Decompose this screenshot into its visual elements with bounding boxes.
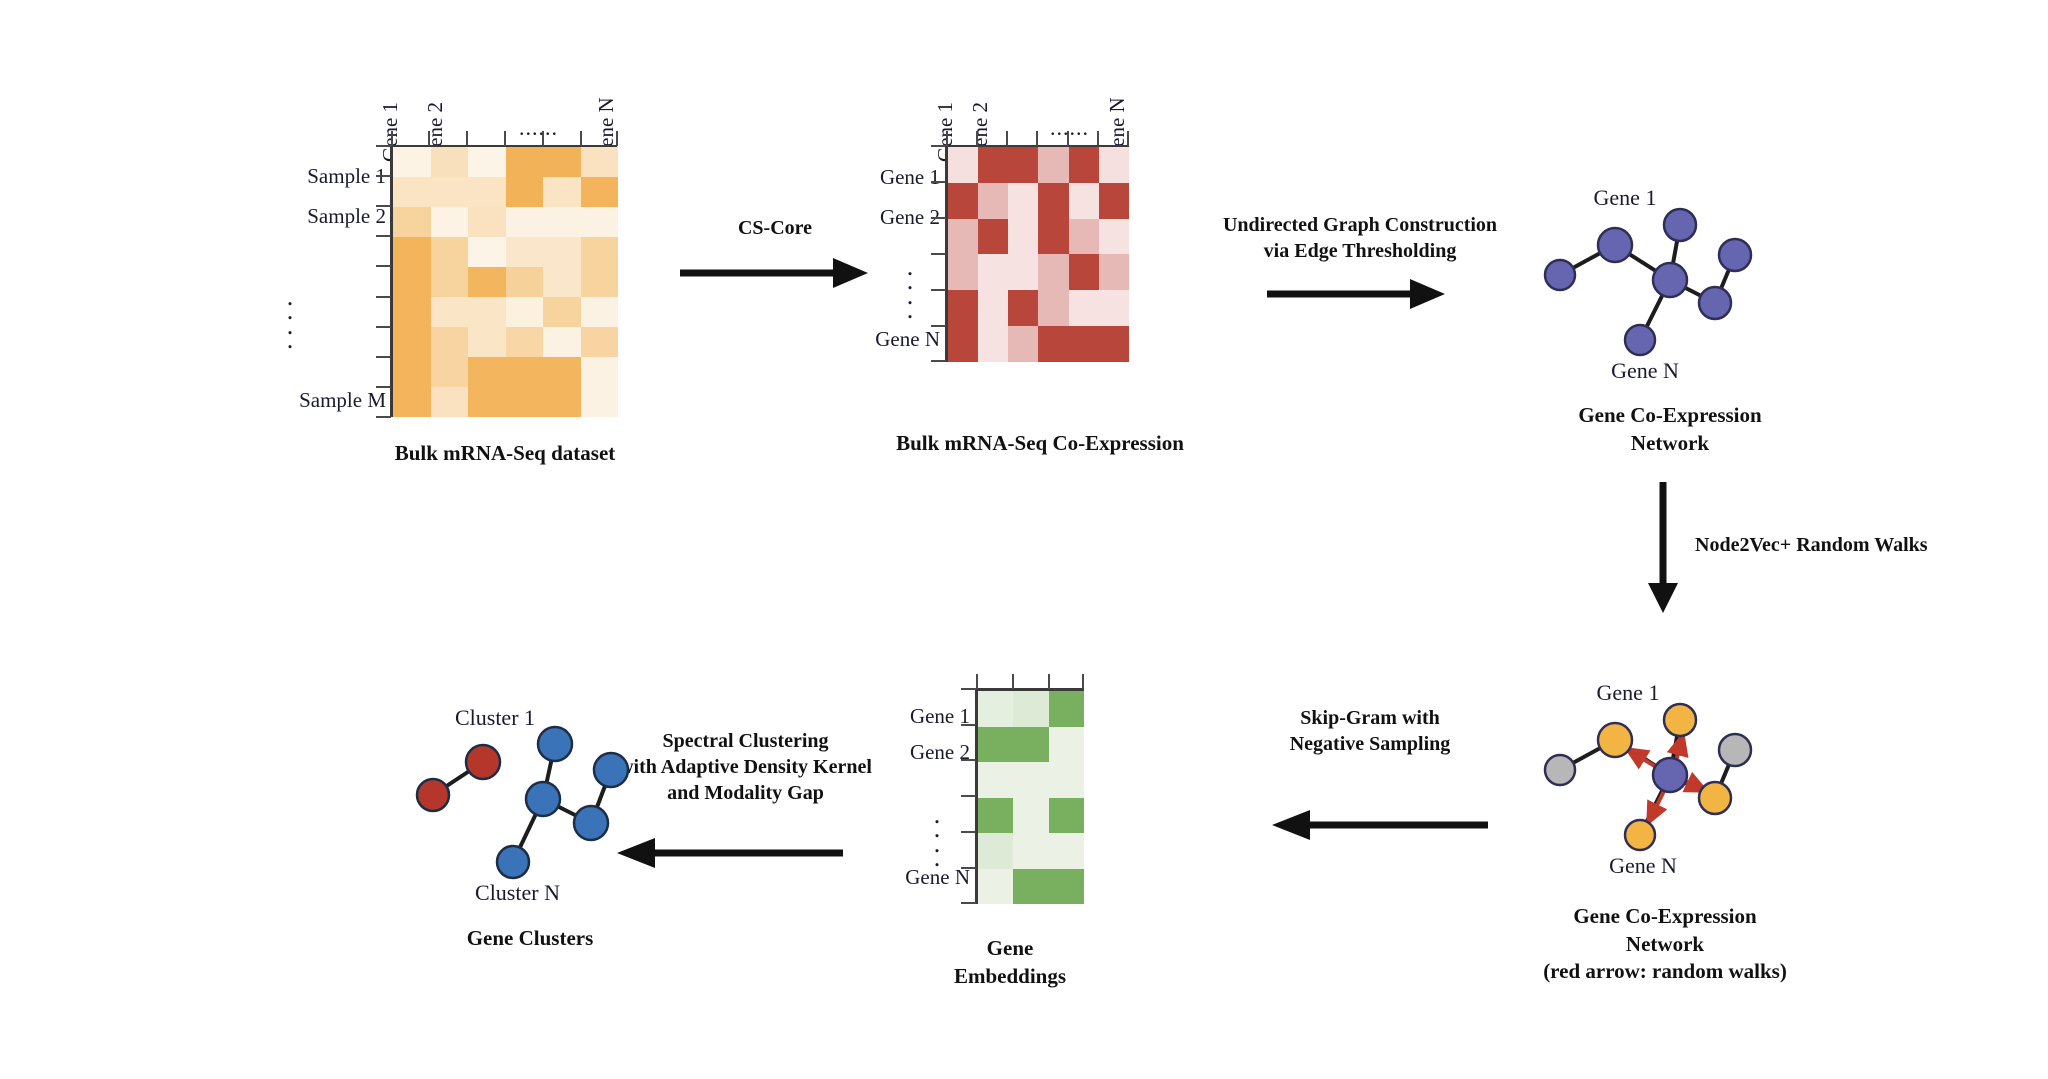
bulk-row-label-sample2: Sample 2 [206, 204, 386, 229]
heatmap-cell [1038, 290, 1068, 326]
embeddings-col-tick [1048, 674, 1050, 689]
heatmap-cell [1049, 762, 1084, 798]
panel-embeddings: Gene 1 Gene 2 .... Gene N Gene Embedding… [890, 690, 1210, 1030]
bulk-col-tick [466, 131, 468, 146]
heatmap-cell [978, 691, 1013, 727]
heatmap-cell [1049, 727, 1084, 763]
heatmap-cell [431, 297, 469, 327]
coexpr-col-tick [946, 131, 948, 146]
embeddings-row-tick [961, 724, 976, 726]
coexpr-col-tick [1036, 131, 1038, 146]
heatmap-cell [581, 387, 619, 417]
coexpr-row-tick [931, 181, 946, 183]
bulk-col-tick [428, 131, 430, 146]
heatmap-cell [431, 267, 469, 297]
heatmap-cell [431, 387, 469, 417]
heatmap-cell [431, 177, 469, 207]
heatmap-cell [393, 207, 431, 237]
arrow-node2vec-group: Node2Vec+ Random Walks [1590, 480, 2040, 630]
heatmap-cell [393, 177, 431, 207]
network-walks-caption: Gene Co-Expression Network (red arrow: r… [1465, 903, 1865, 986]
heatmap-cell [1038, 326, 1068, 362]
coexpr-row-label-genen: Gene N [750, 327, 940, 352]
heatmap-cell [543, 327, 581, 357]
arrow-skipgram-group: Skip-Gram with Negative Sampling [1235, 705, 1505, 825]
heatmap-cell [581, 327, 619, 357]
heatmap-cell [978, 290, 1008, 326]
heatmap-cell [1013, 869, 1048, 905]
heatmap-cell [431, 327, 469, 357]
heatmap-cell [948, 183, 978, 219]
heatmap-cell [431, 237, 469, 267]
heatmap-cell [948, 147, 978, 183]
bulk-row-label-sample1: Sample 1 [206, 164, 386, 189]
heatmap-cell [393, 387, 431, 417]
heatmap-cell [506, 297, 544, 327]
coexpr-col-tick [1006, 131, 1008, 146]
embeddings-row-tick [961, 795, 976, 797]
bulk-col-tick [391, 131, 393, 146]
figure-canvas: Gene 1 Gene 2 ...... Gene N Sample 1 Sam… [0, 0, 2048, 1079]
heatmap-cell [506, 177, 544, 207]
heatmap-cell [431, 147, 469, 177]
heatmap-cell [1099, 290, 1129, 326]
embeddings-heatmap-grid [978, 691, 1084, 904]
embeddings-col-tick [1012, 674, 1014, 689]
heatmap-cell [506, 357, 544, 387]
heatmap-cell [431, 207, 469, 237]
heatmap-cell [1069, 147, 1099, 183]
heatmap-cell [1013, 798, 1048, 834]
bulk-matrix-caption: Bulk mRNA-Seq dataset [250, 440, 760, 468]
heatmap-cell [506, 147, 544, 177]
coexpr-col-tick [1127, 131, 1129, 146]
heatmap-cell [393, 237, 431, 267]
heatmap-cell [948, 290, 978, 326]
heatmap-cell [1069, 254, 1099, 290]
heatmap-cell [543, 207, 581, 237]
clusters-caption: Gene Clusters [350, 925, 710, 953]
heatmap-cell [978, 183, 1008, 219]
embeddings-row-tick [961, 902, 976, 904]
heatmap-cell [506, 207, 544, 237]
panel-bulk-matrix: Gene 1 Gene 2 ...... Gene N Sample 1 Sam… [270, 55, 690, 495]
heatmap-cell [581, 237, 619, 267]
bulk-row-ellipsis: .... [260, 290, 320, 347]
heatmap-cell [1008, 290, 1038, 326]
bulk-row-label-samplem: Sample M [206, 388, 386, 413]
heatmap-cell [948, 326, 978, 362]
coexpr-row-tick [931, 217, 946, 219]
coexpr-col-tick [1067, 131, 1069, 146]
bulk-row-tick [376, 175, 391, 177]
heatmap-cell [468, 207, 506, 237]
heatmap-cell [1069, 183, 1099, 219]
heatmap-cell [1069, 219, 1099, 255]
heatmap-cell [1049, 691, 1084, 727]
clusters-label-clustern: Cluster N [435, 880, 600, 906]
heatmap-cell [543, 237, 581, 267]
heatmap-cell [393, 297, 431, 327]
heatmap-cell [1008, 254, 1038, 290]
bulk-col-tick [542, 131, 544, 146]
heatmap-cell [581, 357, 619, 387]
coexpr-row-label-gene1: Gene 1 [750, 165, 940, 190]
arrow-graph-construction-icon [1265, 274, 1455, 314]
heatmap-cell [393, 147, 431, 177]
heatmap-cell [1099, 219, 1129, 255]
heatmap-cell [1069, 326, 1099, 362]
heatmap-cell [1099, 254, 1129, 290]
bulk-row-tick [376, 265, 391, 267]
network-walks-label-genen: Gene N [1568, 853, 1718, 879]
bulk-row-tick [376, 205, 391, 207]
heatmap-cell [1013, 833, 1048, 869]
panel-clusters: Cluster 1 Cluster N Gene Clusters [395, 700, 725, 1000]
embeddings-row-tick [961, 688, 976, 690]
heatmap-cell [1038, 254, 1068, 290]
bulk-row-tick [376, 386, 391, 388]
heatmap-cell [1008, 183, 1038, 219]
bulk-col-ellipsis: ...... [519, 115, 558, 141]
bulk-row-tick [376, 326, 391, 328]
heatmap-cell [506, 387, 544, 417]
embeddings-row-tick [961, 831, 976, 833]
coexpr-col-tick [976, 131, 978, 146]
embeddings-row-tick [961, 759, 976, 761]
coexpr-row-tick [931, 325, 946, 327]
embeddings-caption: Gene Embeddings [850, 935, 1170, 990]
heatmap-cell [393, 357, 431, 387]
heatmap-cell [1069, 290, 1099, 326]
bulk-row-tick [376, 416, 391, 418]
heatmap-cell [978, 762, 1013, 798]
heatmap-cell [1099, 326, 1129, 362]
heatmap-cell [468, 267, 506, 297]
heatmap-cell [1049, 869, 1084, 905]
heatmap-cell [468, 177, 506, 207]
heatmap-cell [543, 357, 581, 387]
bulk-col-tick [580, 131, 582, 146]
heatmap-cell [1099, 147, 1129, 183]
heatmap-cell [581, 267, 619, 297]
heatmap-cell [978, 326, 1008, 362]
coexpr-matrix-caption: Bulk mRNA-Seq Co-Expression [750, 430, 1330, 458]
bulk-row-tick [376, 145, 391, 147]
heatmap-cell [978, 798, 1013, 834]
embeddings-row-label-gene1: Gene 1 [780, 704, 970, 729]
heatmap-cell [543, 267, 581, 297]
network-top-label-genen: Gene N [1570, 358, 1720, 384]
coexpr-row-tick [931, 253, 946, 255]
network-top-caption: Gene Co-Expression Network [1485, 402, 1855, 457]
heatmap-cell [978, 869, 1013, 905]
network-top-graph [1520, 180, 1790, 385]
coexpr-heatmap-grid [948, 147, 1129, 362]
heatmap-cell [393, 327, 431, 357]
coexpr-col-tick [1097, 131, 1099, 146]
heatmap-cell [581, 297, 619, 327]
coexpr-row-tick [931, 360, 946, 362]
heatmap-cell [581, 147, 619, 177]
heatmap-cell [468, 387, 506, 417]
arrow-cs-core-icon [678, 253, 878, 293]
bulk-col-tick [504, 131, 506, 146]
heatmap-cell [1013, 727, 1048, 763]
heatmap-cell [1049, 833, 1084, 869]
embeddings-col-tick [976, 674, 978, 689]
panel-network-walks: Gene 1 [1520, 675, 1850, 995]
heatmap-cell [468, 147, 506, 177]
heatmap-cell [978, 219, 1008, 255]
heatmap-cell [1038, 147, 1068, 183]
embeddings-col-tick [1082, 674, 1084, 689]
clusters-graph [395, 700, 665, 910]
coexpr-row-tick [931, 145, 946, 147]
panel-network-top: Gene 1 Gene N Gene Co-Expression Network [1520, 180, 1850, 470]
heatmap-cell [543, 297, 581, 327]
heatmap-cell [1049, 798, 1084, 834]
heatmap-cell [1008, 326, 1038, 362]
coexpr-col-ellipsis: ...... [1050, 115, 1089, 141]
heatmap-cell [543, 387, 581, 417]
heatmap-cell [468, 357, 506, 387]
heatmap-cell [1038, 219, 1068, 255]
heatmap-cell [506, 237, 544, 267]
heatmap-cell [1008, 219, 1038, 255]
heatmap-cell [581, 177, 619, 207]
heatmap-cell [1013, 762, 1048, 798]
heatmap-cell [978, 833, 1013, 869]
heatmap-cell [506, 267, 544, 297]
coexpr-row-tick [931, 289, 946, 291]
arrow-graph-construction-group: Undirected Graph Construction via Edge T… [1195, 212, 1525, 312]
heatmap-cell [468, 237, 506, 267]
heatmap-cell [948, 219, 978, 255]
heatmap-cell [393, 267, 431, 297]
bulk-row-tick [376, 235, 391, 237]
bulk-heatmap-grid [393, 147, 618, 417]
heatmap-cell [468, 327, 506, 357]
heatmap-cell [581, 207, 619, 237]
arrow-node2vec-label: Node2Vec+ Random Walks [1695, 532, 2025, 558]
arrow-graph-construction-label: Undirected Graph Construction via Edge T… [1195, 212, 1525, 264]
coexpr-row-ellipsis: .... [885, 260, 935, 317]
embeddings-row-tick [961, 867, 976, 869]
heatmap-cell [431, 357, 469, 387]
arrow-skipgram-label: Skip-Gram with Negative Sampling [1235, 705, 1505, 757]
heatmap-cell [1013, 691, 1048, 727]
bulk-col-tick [616, 131, 618, 146]
heatmap-cell [543, 147, 581, 177]
heatmap-cell [1008, 147, 1038, 183]
heatmap-cell [468, 297, 506, 327]
arrow-node2vec-icon [1640, 480, 1686, 620]
heatmap-cell [948, 254, 978, 290]
heatmap-cell [978, 727, 1013, 763]
arrow-skipgram-icon [1260, 805, 1490, 845]
coexpr-row-label-gene2: Gene 2 [750, 205, 940, 230]
bulk-row-tick [376, 296, 391, 298]
heatmap-cell [1038, 183, 1068, 219]
heatmap-cell [978, 254, 1008, 290]
heatmap-cell [543, 177, 581, 207]
heatmap-cell [506, 327, 544, 357]
embeddings-row-ellipsis: .... [912, 808, 962, 865]
heatmap-cell [978, 147, 1008, 183]
bulk-row-tick [376, 356, 391, 358]
heatmap-cell [1099, 183, 1129, 219]
